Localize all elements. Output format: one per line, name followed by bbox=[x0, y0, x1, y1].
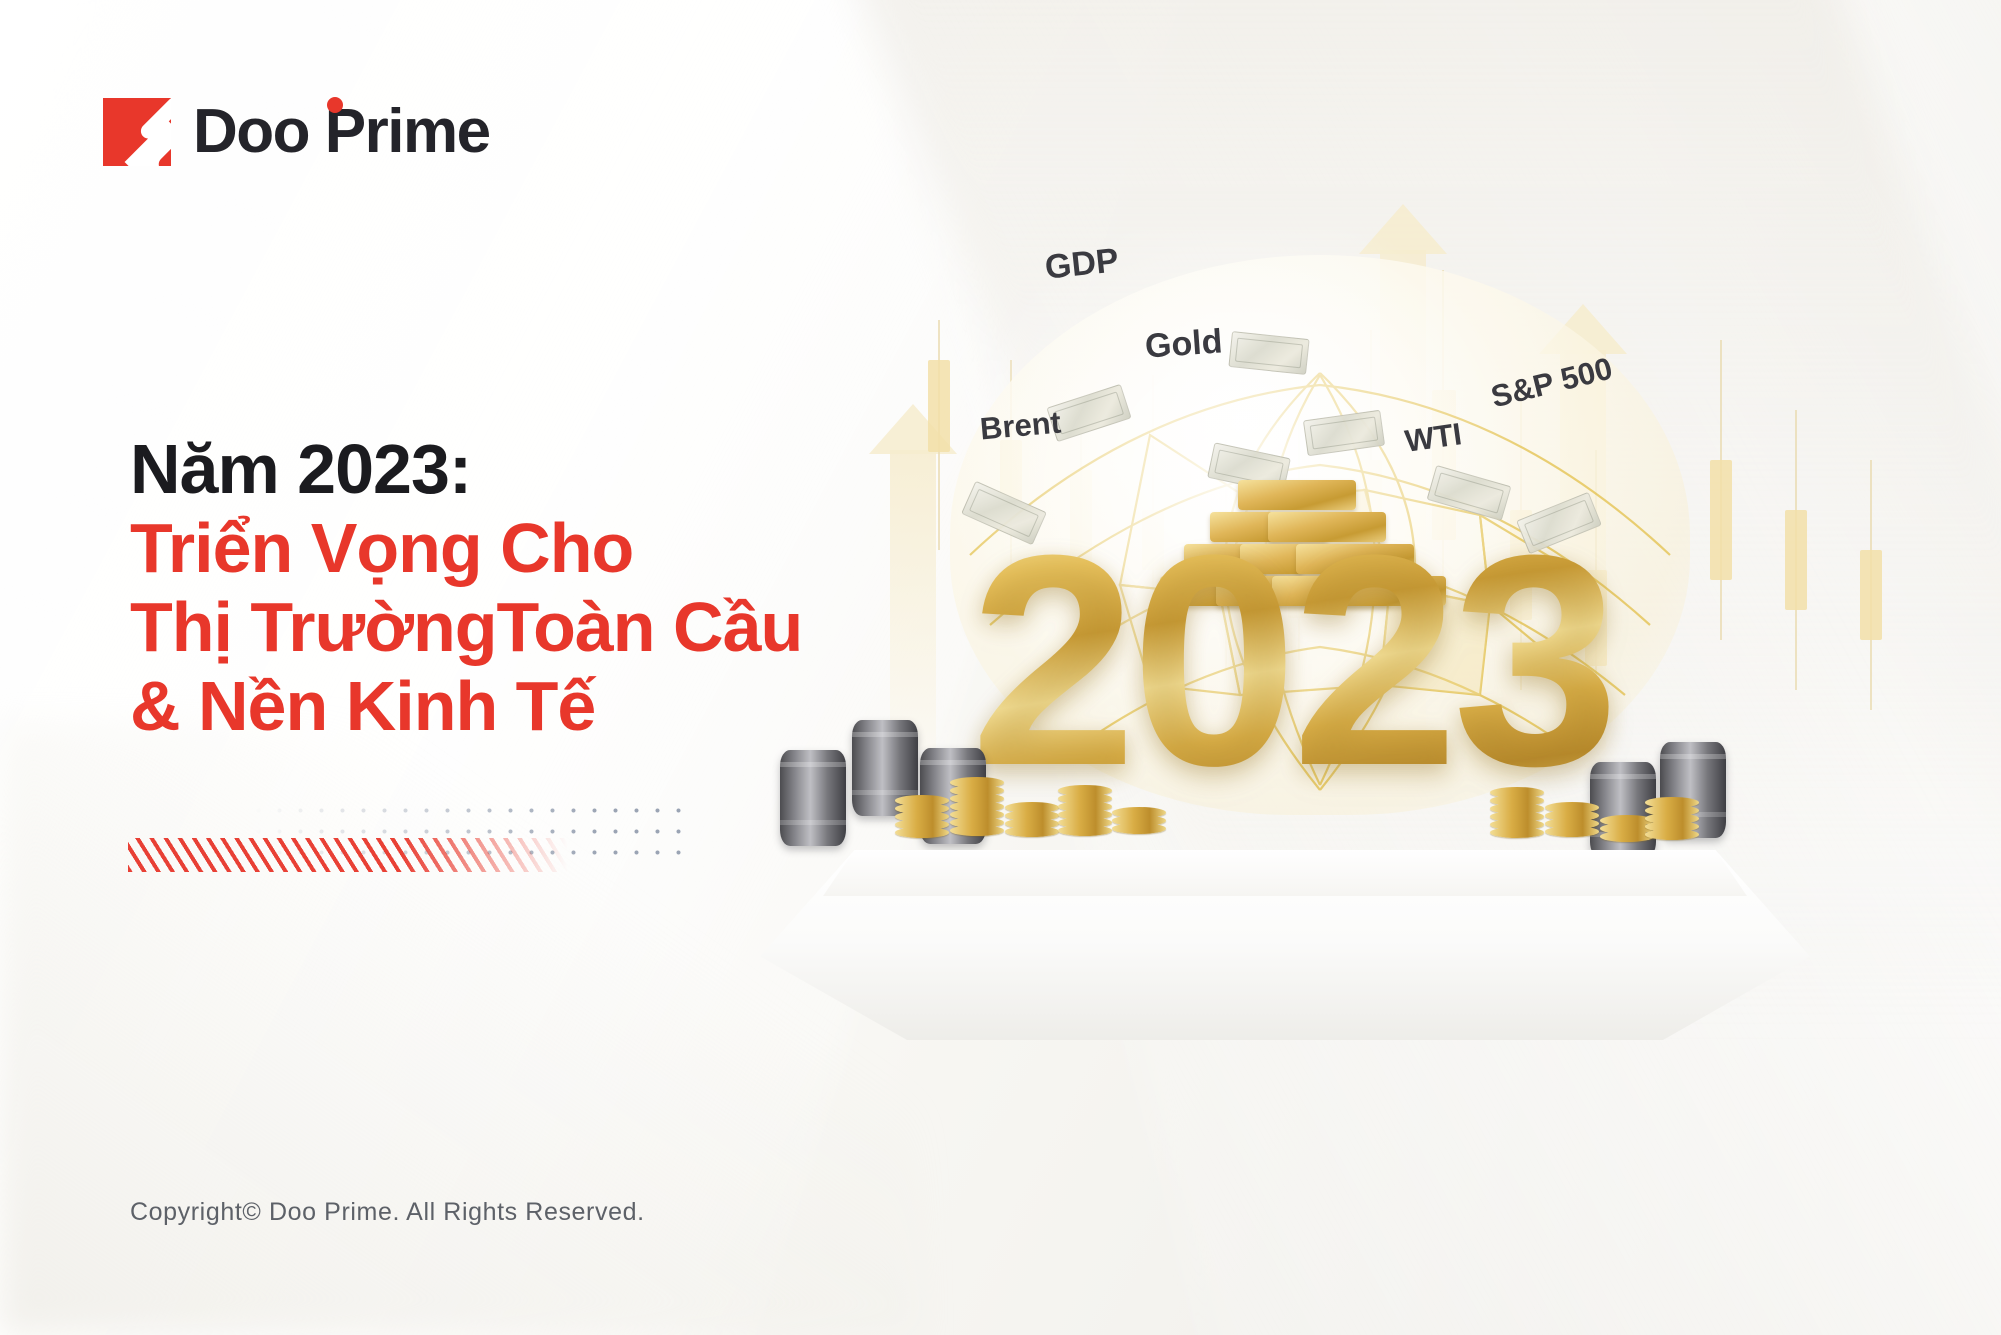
copyright-notice: Copyright© Doo Prime. All Rights Reserve… bbox=[130, 1198, 645, 1227]
doo-prime-logo-mark-icon bbox=[103, 98, 171, 166]
market-label-gdp: GDP bbox=[1043, 241, 1120, 287]
year-2023-graphic: 2023 bbox=[970, 510, 1613, 810]
headline-line-4: & Nền Kinh Tế bbox=[130, 667, 802, 746]
diagonal-stripe-pattern bbox=[128, 838, 568, 872]
brand-logo[interactable]: Doo Prime bbox=[103, 98, 490, 166]
display-podium-top bbox=[760, 850, 1810, 896]
headline-line-2: Triển Vọng Cho bbox=[130, 509, 802, 588]
headline-line-1: Năm 2023: bbox=[130, 430, 802, 509]
page-title: Năm 2023: Triển Vọng Cho Thị TrườngToàn … bbox=[130, 430, 802, 746]
hero-illustration: 2023 bbox=[800, 150, 1980, 1210]
market-label-gold: Gold bbox=[1144, 322, 1224, 366]
headline-line-3: Thị TrườngToàn Cầu bbox=[130, 588, 802, 667]
market-label-brent: Brent bbox=[979, 405, 1063, 448]
logo-accent-dot-icon bbox=[327, 97, 343, 113]
brand-name: Doo Prime bbox=[193, 101, 490, 163]
oil-barrel-icon bbox=[780, 750, 846, 846]
banner-canvas: Doo Prime Năm 2023: Triển Vọng Cho Thị T… bbox=[0, 0, 2001, 1335]
decorative-divider bbox=[128, 800, 688, 890]
